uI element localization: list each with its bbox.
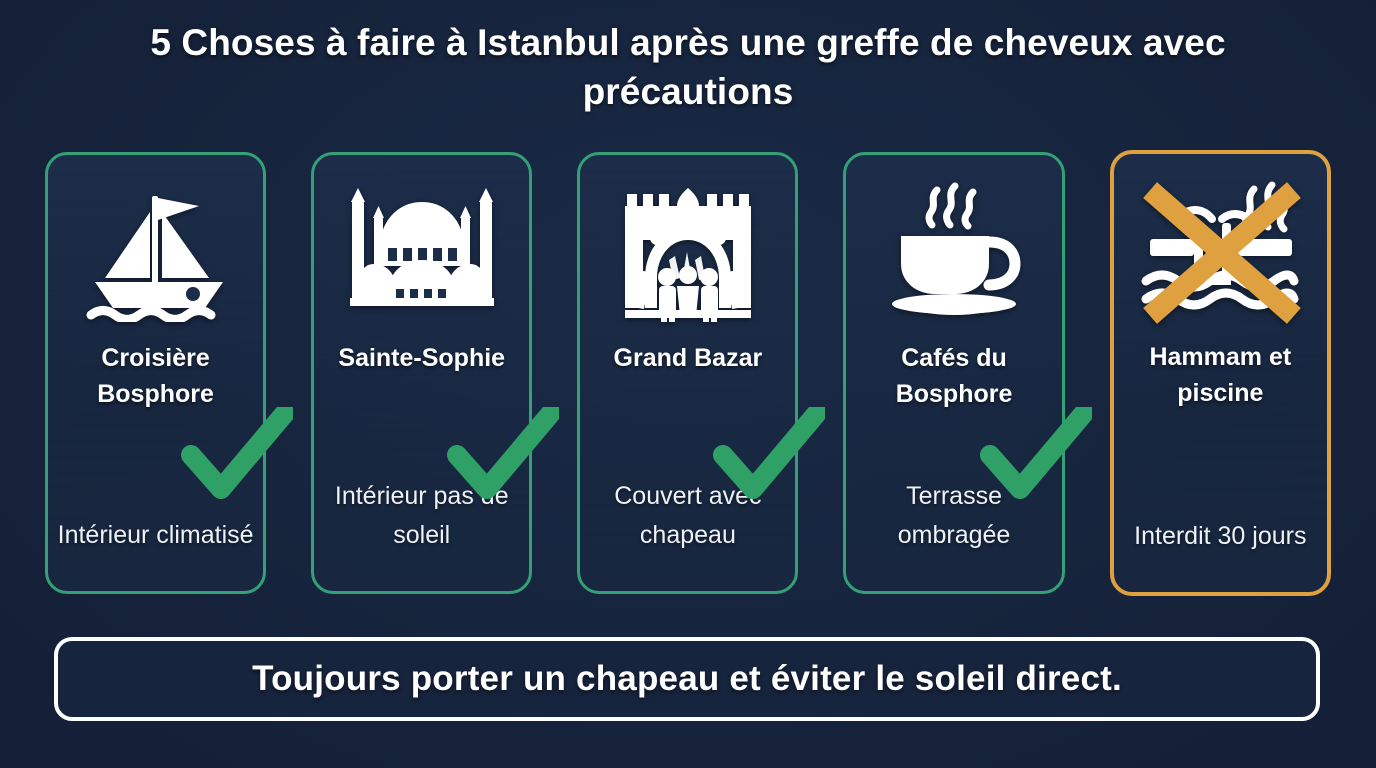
bottom-banner: Toujours porter un chapeau et éviter le … [54,637,1320,721]
card-sainte-sophie[interactable]: Sainte-Sophie Intérieur pas de soleil [311,152,532,594]
check-mark-icon [181,407,293,499]
card-grand-bazar[interactable]: Grand Bazar Couvert avec chapeau [577,152,798,594]
card-hammam-et-piscine[interactable]: Hammam et piscine Interdit 30 jours [1110,150,1331,596]
card-description: Intérieur pas de soleil [320,477,523,555]
card-description: Intérieur climatisé [54,516,257,555]
bazaar-gate-icon [590,177,785,327]
card-title: Sainte-Sophie [324,341,519,377]
card-title: Hammam et piscine [1124,340,1317,411]
card-description: Couvert avec chapeau [586,477,789,555]
sailboat-icon [58,177,253,327]
card-description: Interdit 30 jours [1120,517,1321,556]
infographic-root: 5 Choses à faire à Istanbul après une gr… [0,0,1376,768]
card-croisiere-bosphore[interactable]: Croisière Bosphore Intérieur climatisé [45,152,266,594]
cards-row: Croisière Bosphore Intérieur climatisé [45,152,1331,594]
card-cafes-du-bosphore[interactable]: Cafés du Bosphore Terrasse ombragée [843,152,1064,594]
no-pool-sauna-icon [1124,176,1317,326]
banner-text: Toujours porter un chapeau et éviter le … [252,659,1122,699]
card-title: Croisière Bosphore [58,341,253,412]
card-title: Grand Bazar [590,341,785,377]
coffee-cup-icon [856,177,1051,327]
page-title: 5 Choses à faire à Istanbul après une gr… [0,18,1376,116]
card-title: Cafés du Bosphore [856,341,1051,412]
card-description: Terrasse ombragée [852,477,1055,555]
mosque-icon [324,177,519,327]
